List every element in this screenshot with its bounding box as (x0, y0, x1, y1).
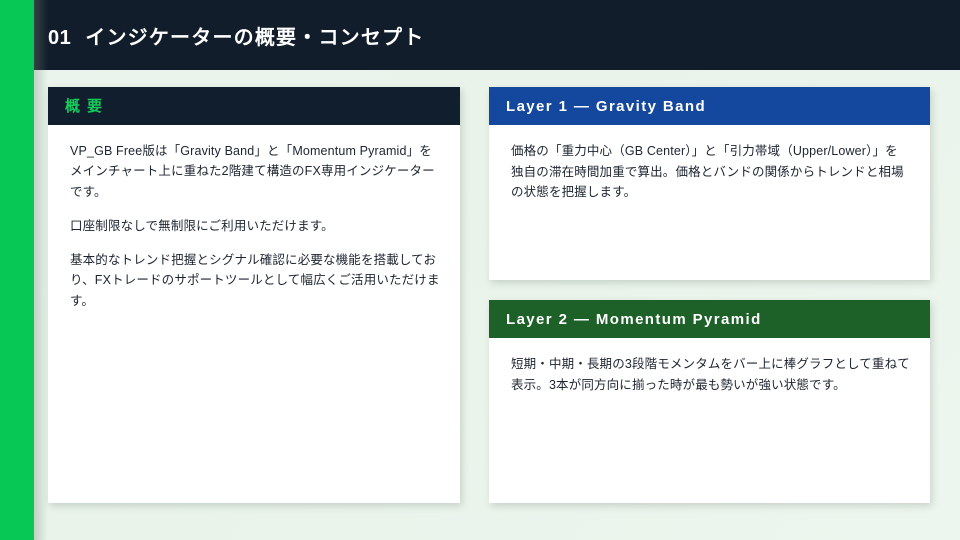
layer1-description: 価格の「重力中心（GB Center）」と「引力帯域（Upper/Lower）」… (511, 141, 910, 203)
layer2-card: Layer 2 — Momentum Pyramid 短期・中期・長期の3段階モ… (489, 300, 930, 503)
header-section-number: 01 (48, 27, 71, 50)
slide-body: 概 要 VP_GB Free版は「Gravity Band」と「Momentum… (0, 70, 960, 540)
left-accent-rail (0, 0, 34, 540)
layer1-card-heading: Layer 1 — Gravity Band (506, 99, 706, 114)
layer1-card-header: Layer 1 — Gravity Band (489, 87, 930, 125)
slide-header-band: 01 インジケーターの概要・コンセプト (0, 0, 960, 70)
layer1-card: Layer 1 — Gravity Band 価格の「重力中心（GB Cente… (489, 87, 930, 280)
overview-paragraph-3: 基本的なトレンド把握とシグナル確認に必要な機能を搭載しており、FXトレードのサポ… (70, 250, 440, 311)
overview-card: 概 要 VP_GB Free版は「Gravity Band」と「Momentum… (48, 87, 460, 503)
layer1-card-body: 価格の「重力中心（GB Center）」と「引力帯域（Upper/Lower）」… (489, 125, 930, 221)
overview-paragraph-1: VP_GB Free版は「Gravity Band」と「Momentum Pyr… (70, 141, 440, 202)
overview-card-header: 概 要 (48, 87, 460, 125)
layer2-description: 短期・中期・長期の3段階モメンタムをバー上に棒グラフとして重ねて表示。3本が同方… (511, 354, 910, 395)
overview-paragraph-2: 口座制限なしで無制限にご利用いただけます。 (70, 216, 440, 236)
slide-canvas: 01 インジケーターの概要・コンセプト 概 要 VP_GB Free版は「Gra… (0, 0, 960, 540)
overview-card-heading: 概 要 (65, 99, 103, 114)
layer2-card-body: 短期・中期・長期の3段階モメンタムをバー上に棒グラフとして重ねて表示。3本が同方… (489, 338, 930, 413)
page-title: インジケーターの概要・コンセプト (85, 21, 424, 50)
overview-card-body: VP_GB Free版は「Gravity Band」と「Momentum Pyr… (48, 125, 460, 329)
header-content: 01 インジケーターの概要・コンセプト (48, 21, 424, 50)
layer2-card-heading: Layer 2 — Momentum Pyramid (506, 312, 762, 327)
layer2-card-header: Layer 2 — Momentum Pyramid (489, 300, 930, 338)
